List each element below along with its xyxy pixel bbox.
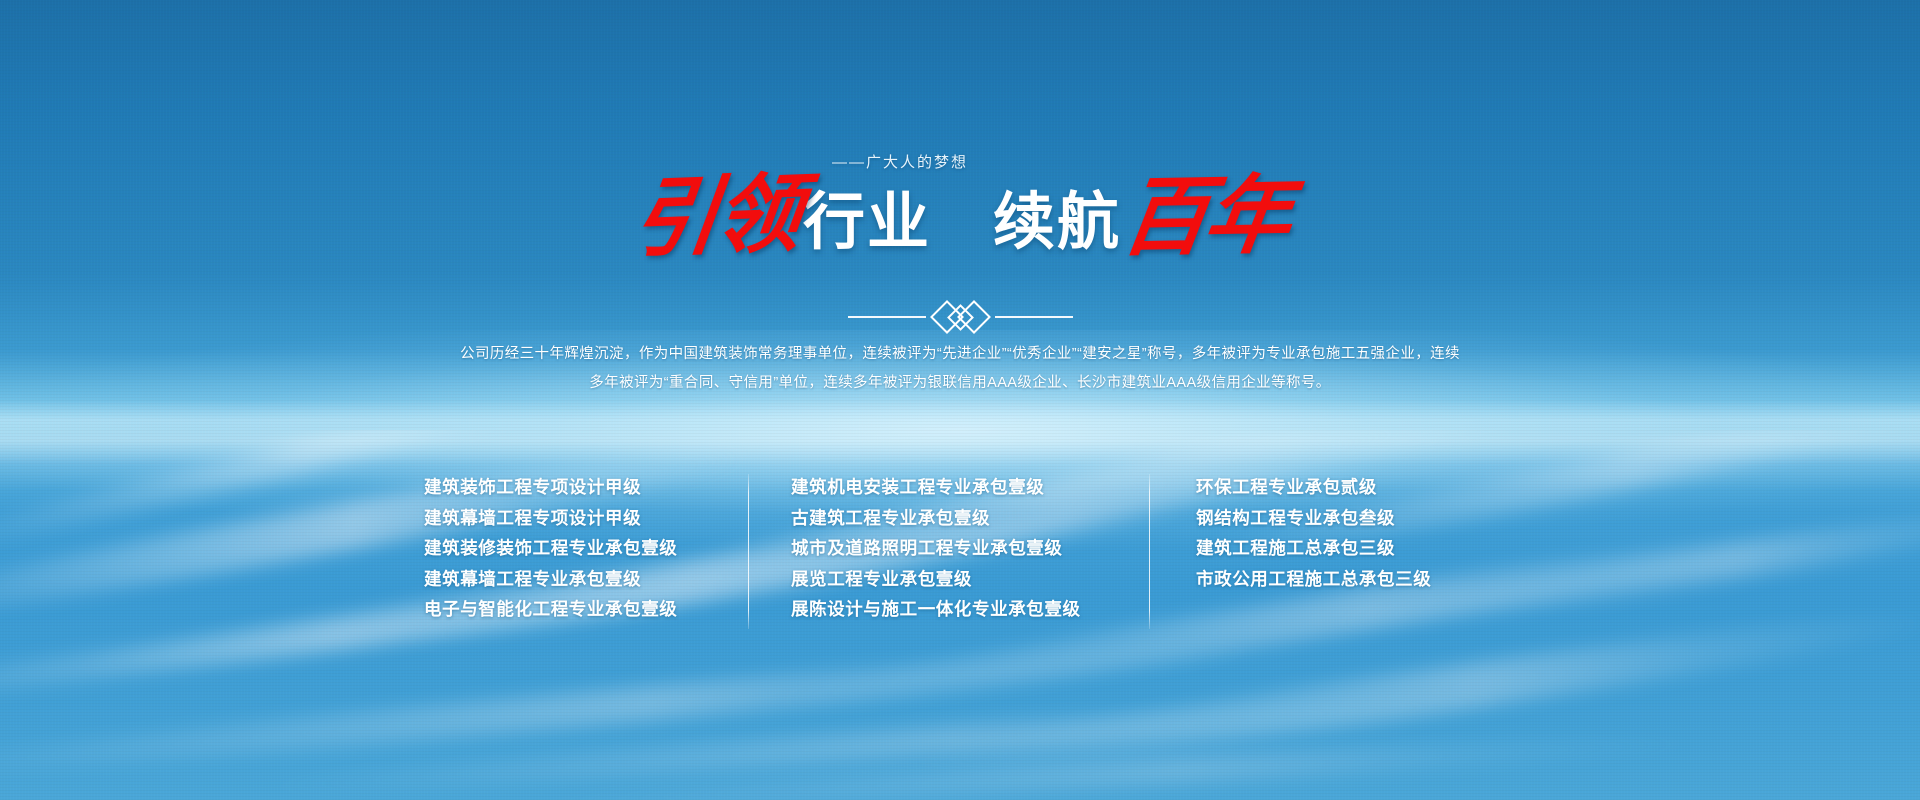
qualification-item: 市政公用工程施工总承包三级 [1196, 564, 1496, 595]
qualification-column-1: 建筑装饰工程专项设计甲级 建筑幕墙工程专项设计甲级 建筑装修装饰工程专业承包壹级… [424, 472, 748, 625]
company-description: 公司历经三十年辉煌沉淀，作为中国建筑装饰常务理事单位，连续被评为“先进企业”“优… [430, 340, 1490, 398]
qualification-item: 展览工程专业承包壹级 [791, 564, 1121, 595]
qualification-item: 建筑装修装饰工程专业承包壹级 [424, 533, 716, 564]
divider-line-right [995, 316, 1073, 318]
headline-brush-century: 百年 [1117, 175, 1293, 260]
divider-line-left [848, 316, 926, 318]
qualification-columns: 建筑装饰工程专项设计甲级 建筑幕墙工程专项设计甲级 建筑装修装饰工程专业承包壹级… [424, 472, 1496, 629]
headline-solid-industry: 行业 [797, 192, 933, 258]
qualification-item: 古建筑工程专业承包壹级 [791, 503, 1121, 534]
hero-banner: ——广大人的梦想 引领 行业 续航 百年 公司历经三十年辉煌沉淀，作为中国建筑装… [0, 0, 1920, 800]
qualification-item: 电子与智能化工程专业承包壹级 [424, 594, 716, 625]
headline-solid-endurance: 续航 [987, 192, 1123, 258]
ornamental-divider [0, 305, 1920, 329]
qualification-item: 建筑幕墙工程专项设计甲级 [424, 503, 716, 534]
hero-content: ——广大人的梦想 引领 行业 续航 百年 公司历经三十年辉煌沉淀，作为中国建筑装… [0, 0, 1920, 800]
qualification-item: 建筑机电安装工程专业承包壹级 [791, 472, 1121, 503]
qualification-item: 展陈设计与施工一体化专业承包壹级 [791, 594, 1121, 625]
diamond-icon [947, 304, 974, 331]
description-line-2: 多年被评为“重合同、守信用”单位，连续多年被评为银联信用AAA级企业、长沙市建筑… [430, 369, 1490, 398]
qualification-item: 建筑装饰工程专项设计甲级 [424, 472, 716, 503]
qualification-item: 城市及道路照明工程专业承包壹级 [791, 533, 1121, 564]
hero-headline: 引领 行业 续航 百年 [0, 176, 1920, 258]
qualification-item: 钢结构工程专业承包叁级 [1196, 503, 1496, 534]
diamond-icon [957, 300, 991, 334]
qualification-item: 环保工程专业承包贰级 [1196, 472, 1496, 503]
qualification-item: 建筑工程施工总承包三级 [1196, 533, 1496, 564]
qualification-column-3: 环保工程专业承包贰级 钢结构工程专业承包叁级 建筑工程施工总承包三级 市政公用工… [1150, 472, 1496, 594]
description-line-1: 公司历经三十年辉煌沉淀，作为中国建筑装饰常务理事单位，连续被评为“先进企业”“优… [430, 340, 1490, 369]
qualification-column-2: 建筑机电安装工程专业承包壹级 古建筑工程专业承包壹级 城市及道路照明工程专业承包… [749, 472, 1149, 625]
hero-subtitle: ——广大人的梦想 [0, 151, 1920, 172]
diamond-icon [930, 300, 964, 334]
qualification-item: 建筑幕墙工程专业承包壹级 [424, 564, 716, 595]
headline-brush-lead: 引领 [628, 173, 803, 261]
